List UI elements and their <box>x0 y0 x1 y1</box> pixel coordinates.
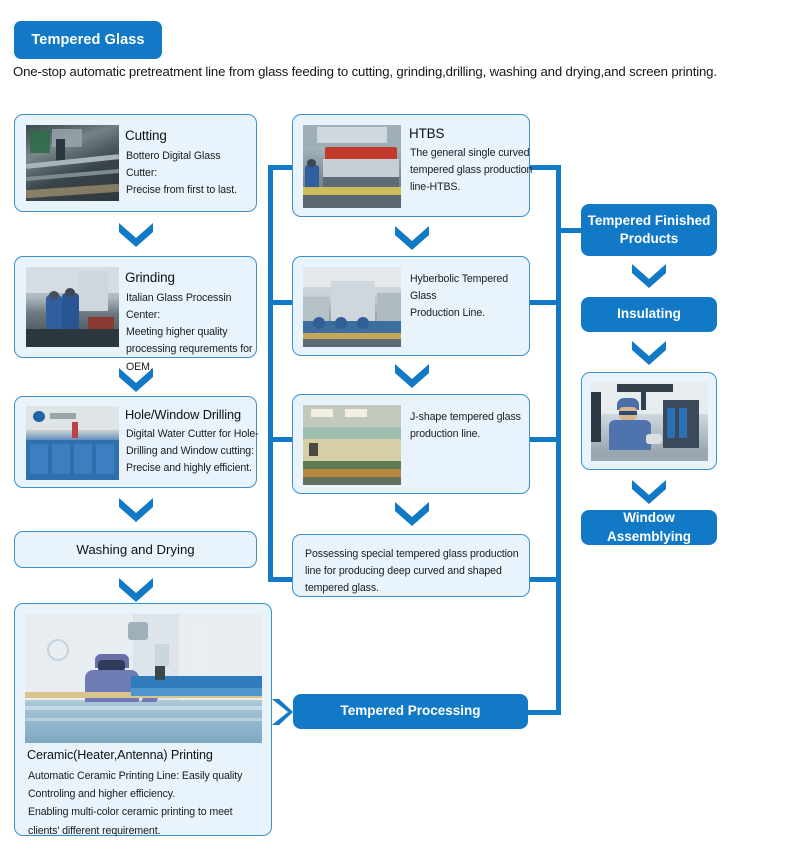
arrow-assembly-photo-to-window-assemblying <box>630 478 668 504</box>
window-assemblying-label: Window Assemblying <box>581 509 717 545</box>
cutting-title: Cutting <box>125 128 167 143</box>
card-ceramic-printing[interactable]: Ceramic(Heater,Antenna) Printing Automat… <box>14 603 272 836</box>
ceramic-printing-title: Ceramic(Heater,Antenna) Printing <box>27 748 213 762</box>
washing-and-drying-label: Washing and Drying <box>15 532 256 567</box>
arrow-washing-to-ceramic <box>117 576 155 602</box>
htbs-photo <box>303 125 401 208</box>
arrow-grinding-to-drilling <box>117 366 155 392</box>
connector-left-branch-deepcurved <box>268 577 294 582</box>
hyberbolic-body: Hyberbolic Tempered Glass Production Lin… <box>410 271 536 322</box>
arrow-insulating-to-assembly-photo <box>630 339 668 365</box>
insulating-label: Insulating <box>617 305 681 323</box>
cutting-body: Bottero Digital Glass Cutter: Precise fr… <box>126 148 254 199</box>
card-deep-curved[interactable]: Possessing special tempered glass produc… <box>292 534 530 597</box>
grinding-title: Grinding <box>125 270 175 285</box>
box-window-assemblying[interactable]: Window Assemblying <box>581 510 717 545</box>
grinding-body: Italian Glass Processin Center: Meeting … <box>126 290 264 376</box>
connector-right-to-tempered-processing <box>528 710 561 715</box>
arrow-htbs-to-hyberbolic <box>393 224 431 250</box>
arrow-drilling-to-washing <box>117 496 155 522</box>
arrow-finished-to-insulating <box>630 262 668 288</box>
htbs-body: The general single curved tempered glass… <box>410 145 534 196</box>
window-assembling-photo <box>591 382 708 461</box>
box-tempered-finished-products[interactable]: Tempered Finished Products <box>581 204 717 256</box>
card-hole-window-drilling[interactable]: Hole/Window Drilling Digital Water Cutte… <box>14 396 257 488</box>
j-shape-body: J-shape tempered glass production line. <box>410 409 536 443</box>
connector-left-branch-jshape <box>268 437 294 442</box>
hyberbolic-photo <box>303 267 401 347</box>
htbs-title: HTBS <box>409 126 444 141</box>
page-subtitle: One-stop automatic pretreatment line fro… <box>13 64 793 79</box>
page-title-badge: Tempered Glass <box>14 21 162 59</box>
connector-right-branch-deepcurved <box>530 577 561 582</box>
drilling-title: Hole/Window Drilling <box>125 407 241 422</box>
cutting-photo <box>26 125 119 201</box>
box-tempered-processing[interactable]: Tempered Processing <box>293 694 528 729</box>
card-cutting[interactable]: Cutting Bottero Digital Glass Cutter: Pr… <box>14 114 257 212</box>
tempered-processing-label: Tempered Processing <box>340 702 480 720</box>
card-htbs[interactable]: HTBS The general single curved tempered … <box>292 114 530 217</box>
arrow-cutting-to-grinding <box>117 221 155 247</box>
connector-left-branch-hyberbolic <box>268 300 294 305</box>
arrow-jshape-to-deepcurved <box>393 500 431 526</box>
card-window-assembly-photo[interactable] <box>581 372 717 470</box>
arrow-hyberbolic-to-jshape <box>393 362 431 388</box>
ceramic-printing-photo <box>25 614 262 743</box>
grinding-photo <box>26 267 119 347</box>
tempered-finished-products-label: Tempered Finished Products <box>588 212 711 248</box>
ceramic-printing-body: Automatic Ceramic Printing Line: Easily … <box>28 767 268 840</box>
deep-curved-body: Possessing special tempered glass produc… <box>305 546 525 597</box>
j-shape-photo <box>303 405 401 485</box>
card-washing-and-drying[interactable]: Washing and Drying <box>14 531 257 568</box>
drilling-photo <box>26 406 119 480</box>
box-insulating[interactable]: Insulating <box>581 297 717 332</box>
arrow-ceramic-to-tempered-processing <box>270 697 294 727</box>
card-hyberbolic[interactable]: Hyberbolic Tempered Glass Production Lin… <box>292 256 530 356</box>
page-title-text: Tempered Glass <box>31 32 144 48</box>
flow-diagram-canvas: Tempered Glass One-stop automatic pretre… <box>0 0 800 854</box>
connector-right-to-finished-products <box>556 228 584 233</box>
connector-left-bus-vertical <box>268 165 273 582</box>
card-j-shape[interactable]: J-shape tempered glass production line. <box>292 394 530 494</box>
card-grinding[interactable]: Grinding Italian Glass Processin Center:… <box>14 256 257 358</box>
drilling-body: Digital Water Cutter for Hole- Drilling … <box>126 426 266 477</box>
